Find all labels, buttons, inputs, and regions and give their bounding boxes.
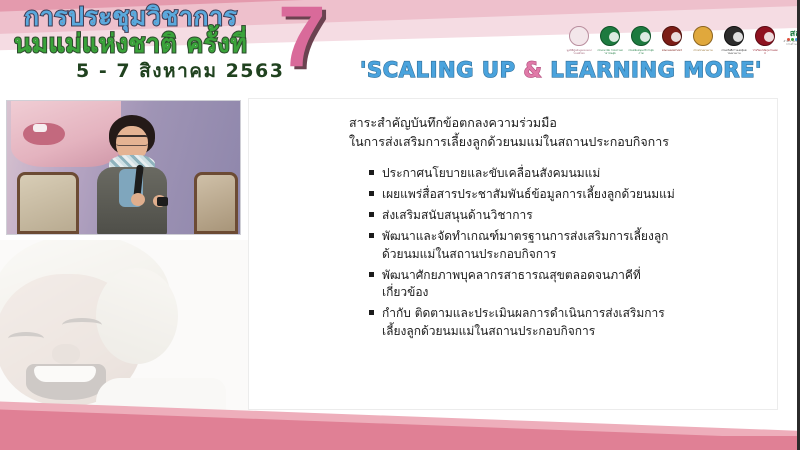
seal-center-icon bbox=[671, 32, 681, 42]
speaker-figure bbox=[95, 115, 169, 235]
content-bullet-list: ประกาศนโยบายและขับเคลื่อนสังคมนมแม่ เผยแ… bbox=[349, 165, 749, 340]
logo-caption: กรมสนับสนุนบริการสุขภาพ bbox=[628, 49, 654, 56]
stage-chair-right bbox=[194, 172, 238, 234]
health-department-logo: กรมสนับสนุนบริการสุขภาพ bbox=[628, 26, 654, 56]
royal-crest-icon bbox=[693, 26, 713, 46]
bullet-line-1: กำกับ ติดตามและประเมินผลการดำเนินการส่งเ… bbox=[382, 306, 665, 320]
square-bullet-icon bbox=[369, 212, 374, 217]
list-item: พัฒนาศักยภาพบุคลากรสาธารณสุขตลอดจนภาคีที… bbox=[369, 267, 749, 302]
bullet-line-2: เลี้ยงลูกด้วยนมแม่ในสถานประกอบกิจการ bbox=[382, 323, 749, 341]
list-item: เผยแพร่สื่อสารประชาสัมพันธ์ข้อมูลการเลี้… bbox=[369, 186, 749, 204]
slide-header-banner: การประชุมวิชาการ นมแม่แห่งชาติ ครั้งที่ … bbox=[0, 0, 800, 95]
edition-number: 7 bbox=[278, 0, 326, 80]
square-bullet-icon bbox=[369, 191, 374, 196]
red-crest-icon bbox=[755, 26, 775, 46]
bullet-line-1: พัฒนาศักยภาพบุคลากรสาธารณสุขตลอดจนภาคีที… bbox=[382, 268, 641, 282]
black-seal-icon bbox=[724, 26, 744, 46]
ministry-health-icon bbox=[600, 26, 620, 46]
logo-caption: กระทรวงแรงงาน bbox=[690, 49, 716, 56]
seal-center-icon bbox=[764, 32, 774, 42]
thaihealth-logo: สสส สำนักงานกองทุนสนับสนุนการสร้างเสริมส… bbox=[783, 26, 800, 56]
speaker-glasses-icon bbox=[116, 135, 148, 146]
thaihealth-sublabel: สำนักงานกองทุนสนับสนุนการสร้างเสริมสุขภา… bbox=[783, 40, 800, 47]
bullet-line-1: เผยแพร่สื่อสารประชาสัมพันธ์ข้อมูลการเลี้… bbox=[382, 187, 675, 201]
logo-caption: กรมอนามัย กระทรวงสาธารณสุข bbox=[597, 49, 623, 56]
presentation-slide: การประชุมวิชาการ นมแม่แห่งชาติ ครั้งที่ … bbox=[0, 0, 800, 450]
bullet-line-1: ส่งเสริมสนับสนุนด้านวิชาการ bbox=[382, 208, 533, 222]
black-seal-logo: กรมสวัสดิการและคุ้มครองแรงงาน bbox=[721, 26, 747, 56]
health-department-icon bbox=[631, 26, 651, 46]
conference-title-line-1: การประชุมวิชาการ bbox=[24, 2, 237, 32]
logo-caption: กรมสวัสดิการและคุ้มครองแรงงาน bbox=[721, 49, 747, 56]
university-seal-logo: คณะแพทยศาสตร์ bbox=[659, 26, 685, 56]
child-nose bbox=[52, 344, 80, 364]
speaker-video-thumbnail bbox=[6, 100, 241, 235]
red-crest-logo: ราชวิทยาลัยกุมารแพทย์ bbox=[752, 26, 778, 56]
presenter-remote-icon bbox=[157, 197, 168, 206]
list-item: ส่งเสริมสนับสนุนด้านวิชาการ bbox=[369, 207, 749, 225]
sponsor-logo-row: มูลนิธิศูนย์นมแม่แห่งประเทศไทย กรมอนามัย… bbox=[566, 24, 800, 56]
square-bullet-icon bbox=[369, 233, 374, 238]
bottom-band-base bbox=[0, 436, 800, 450]
conference-tagline: 'SCALING UP & LEARNING MORE' bbox=[360, 58, 762, 82]
thaihealth-label: สสส bbox=[783, 29, 800, 39]
caduceus-icon bbox=[640, 32, 650, 42]
content-lead-line-1: สาระสำคัญบันทึกข้อตกลงความร่วมมือ bbox=[349, 113, 749, 132]
logo-caption: มูลนิธิศูนย์นมแม่แห่งประเทศไทย bbox=[566, 49, 592, 56]
list-item: ประกาศนโยบายและขับเคลื่อนสังคมนมแม่ bbox=[369, 165, 749, 183]
child-eye-right bbox=[62, 318, 102, 332]
content-lead-line-2: ในการส่งเสริมการเลี้ยงลูกด้วยนมแม่ในสถาน… bbox=[349, 132, 749, 151]
caduceus-icon bbox=[609, 32, 619, 42]
tagline-part-2: LEARNING MORE' bbox=[542, 58, 762, 82]
conference-title-line-2: นมแม่แห่งชาติ ครั้งที่ bbox=[14, 29, 247, 59]
university-seal-icon bbox=[662, 26, 682, 46]
bullet-line-2: เกี่ยวข้อง bbox=[382, 284, 749, 302]
tagline-ampersand: & bbox=[524, 58, 543, 82]
tagline-part-1: 'SCALING UP bbox=[360, 58, 524, 82]
smiling-child-background-photo bbox=[0, 240, 250, 430]
square-bullet-icon bbox=[369, 170, 374, 175]
list-item: พัฒนาและจัดทำเกณฑ์มาตรฐานการส่งเสริมการเ… bbox=[369, 228, 749, 263]
child-teeth bbox=[34, 366, 96, 382]
royal-emblem-logo: มูลนิธิศูนย์นมแม่แห่งประเทศไทย bbox=[566, 26, 592, 56]
square-bullet-icon bbox=[369, 310, 374, 315]
logo-caption: ราชวิทยาลัยกุมารแพทย์ bbox=[752, 49, 778, 56]
backdrop-baby-teeth bbox=[33, 124, 47, 132]
logo-caption: คณะแพทยศาสตร์ bbox=[659, 49, 685, 56]
content-inner-wrapper: สาระสำคัญบันทึกข้อตกลงความร่วมมือ ในการส… bbox=[349, 113, 749, 344]
bullet-line-2: ด้วยนมแม่ในสถานประกอบกิจการ bbox=[382, 246, 749, 264]
speaker-hand-left bbox=[131, 193, 145, 206]
conference-date-range: 5 - 7 สิงหาคม 2563 bbox=[76, 59, 284, 83]
child-hat-brim bbox=[96, 268, 178, 364]
seal-center-icon bbox=[733, 32, 743, 42]
child-eye-left bbox=[8, 332, 44, 345]
bullet-line-1: พัฒนาและจัดทำเกณฑ์มาตรฐานการส่งเสริมการเ… bbox=[382, 229, 668, 243]
bullet-line-1: ประกาศนโยบายและขับเคลื่อนสังคมนมแม่ bbox=[382, 166, 600, 180]
slide-content-panel: สาระสำคัญบันทึกข้อตกลงความร่วมมือ ในการส… bbox=[248, 98, 778, 410]
list-item: กำกับ ติดตามและประเมินผลการดำเนินการส่งเ… bbox=[369, 305, 749, 340]
stage-chair-left bbox=[17, 172, 79, 234]
royal-emblem-icon bbox=[569, 26, 589, 46]
square-bullet-icon bbox=[369, 272, 374, 277]
content-lead-paragraph: สาระสำคัญบันทึกข้อตกลงความร่วมมือ ในการส… bbox=[349, 113, 749, 151]
ministry-public-health-logo: กรมอนามัย กระทรวงสาธารณสุข bbox=[597, 26, 623, 56]
royal-crest-logo: กระทรวงแรงงาน bbox=[690, 26, 716, 56]
